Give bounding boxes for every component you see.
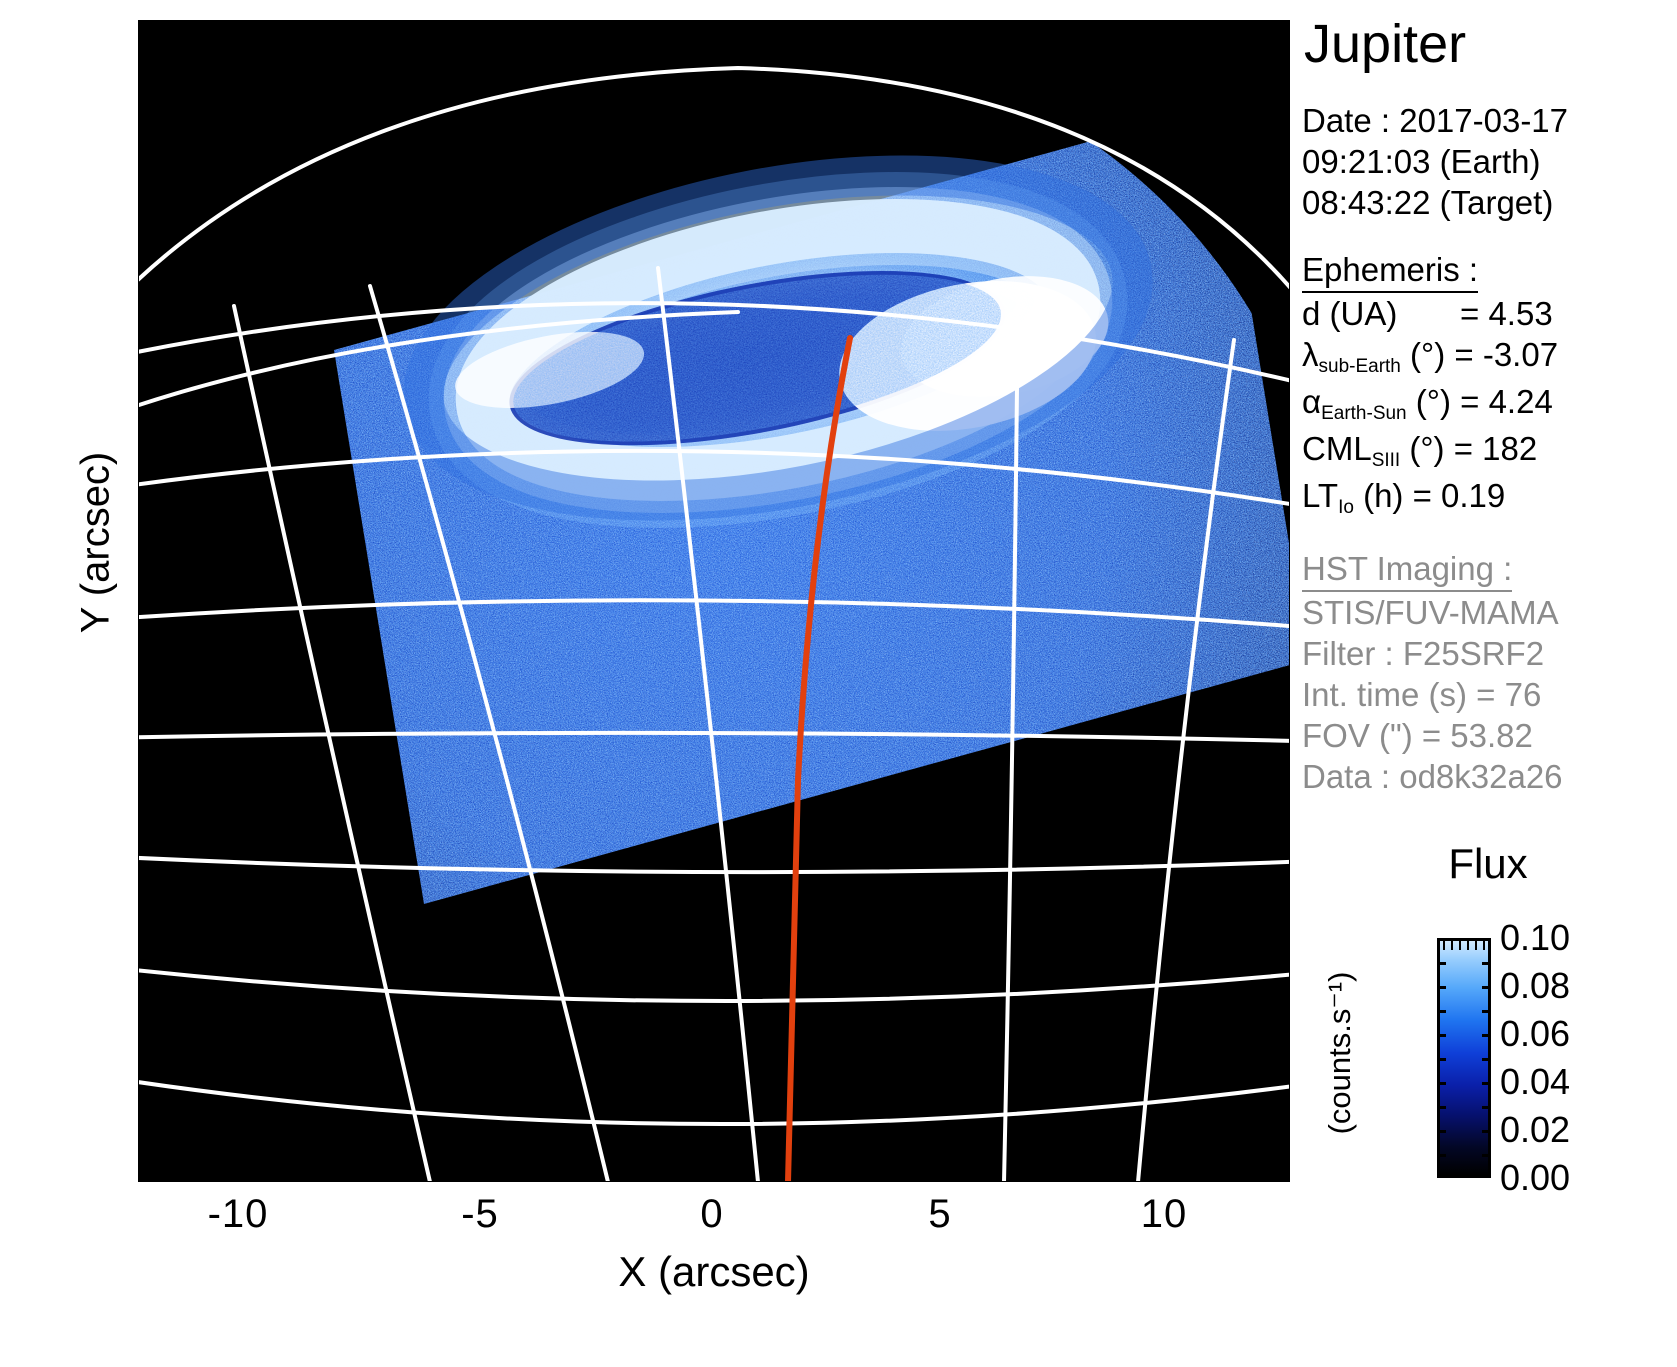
colorbar-tick-label-004: 0.04 — [1500, 1064, 1570, 1100]
colorbar-unit-label: (counts.s⁻¹) — [1322, 943, 1358, 1163]
ephemeris-row-alpha: αEarth-Sun (°) = 4.24 — [1302, 381, 1674, 428]
colorbar-tick — [1483, 941, 1485, 950]
observation-time-target: 08:43:22 (Target) — [1302, 182, 1674, 223]
colorbar-tick-label-008: 0.08 — [1500, 968, 1570, 1004]
ephemeris-value-alpha: = 4.24 — [1460, 383, 1553, 420]
colorbar-tick — [1437, 1082, 1446, 1085]
ephemeris-value-d: = 4.53 — [1460, 295, 1553, 332]
colorbar-tick — [1437, 1058, 1446, 1061]
colorbar-tick — [1443, 941, 1445, 950]
colorbar-tick — [1467, 941, 1469, 950]
ephemeris-unit-alpha: (°) — [1407, 383, 1451, 420]
y-axis-label-wrap: Y (arcsec) — [0, 520, 196, 565]
ephemeris-sub-lt: Io — [1338, 497, 1354, 518]
x-axis-label: X (arcsec) — [138, 1248, 1290, 1296]
x-tick-0: 0 — [652, 1192, 772, 1237]
ephemeris-row-cml: CMLSIII (°) = 182 — [1302, 428, 1674, 475]
y-axis-label: Y (arcsec) — [74, 452, 119, 634]
colorbar-unit-wrap: (counts.s⁻¹) — [1300, 930, 1360, 1180]
ephemeris-unit-lambda: (°) — [1401, 336, 1445, 373]
colorbar-tick-label-010: 0.10 — [1500, 920, 1570, 956]
x-tick-5: 5 — [880, 1192, 1000, 1237]
colorbar-tick — [1437, 1034, 1446, 1037]
page-title: Jupiter — [1304, 14, 1674, 74]
colorbar-tick — [1437, 1010, 1446, 1013]
colorbar-tick — [1482, 962, 1491, 965]
colorbar-tick — [1437, 1106, 1446, 1109]
ephemeris-value-lambda: = -3.07 — [1454, 336, 1558, 373]
x-tick-m10: -10 — [178, 1192, 298, 1237]
ephemeris-sub-cml: SIII — [1372, 450, 1401, 471]
observation-time-earth: 09:21:03 (Earth) — [1302, 141, 1674, 182]
x-tick-10: 10 — [1104, 1192, 1224, 1237]
ephemeris-row-lambda: λsub-Earth (°) = -3.07 — [1302, 334, 1674, 381]
ephemeris-value-cml: = 182 — [1454, 430, 1538, 467]
ephemeris-label-d: d (UA) — [1302, 293, 1460, 334]
colorbar-title: Flux — [1398, 840, 1578, 888]
ephemeris-unit-lt: (h) — [1354, 477, 1404, 514]
ephemeris-sub-lambda: sub-Earth — [1319, 356, 1401, 377]
ephemeris-symbol-lt: LT — [1302, 477, 1338, 514]
ephemeris-sub-alpha: Earth-Sun — [1321, 403, 1407, 424]
colorbar-tick-label-006: 0.06 — [1500, 1016, 1570, 1052]
hst-instrument: STIS/FUV-MAMA — [1302, 592, 1674, 633]
colorbar-tick — [1482, 1106, 1491, 1109]
ephemeris-row-lt: LTIo (h) = 0.19 — [1302, 475, 1674, 522]
colorbar-tick — [1475, 941, 1477, 950]
ephemeris-unit-cml: (°) — [1400, 430, 1444, 467]
colorbar-tick-label-002: 0.02 — [1500, 1112, 1570, 1148]
colorbar-tick — [1437, 1154, 1446, 1157]
ephemeris-heading: Ephemeris : — [1302, 249, 1478, 293]
ephemeris-value-lt: = 0.19 — [1413, 477, 1506, 514]
colorbar-tick — [1437, 986, 1446, 989]
ephemeris-row-d: d (UA)= 4.53 — [1302, 293, 1674, 334]
x-tick-m5: -5 — [420, 1192, 540, 1237]
hst-imaging-heading: HST Imaging : — [1302, 548, 1512, 592]
ephemeris-symbol-cml: CML — [1302, 430, 1372, 467]
hst-fov: FOV (") = 53.82 — [1302, 715, 1674, 756]
observation-date: Date : 2017-03-17 — [1302, 100, 1674, 141]
image-canvas — [138, 20, 1290, 1182]
colorbar-tick — [1482, 1082, 1491, 1085]
info-panel: Jupiter Date : 2017-03-17 09:21:03 (Eart… — [1302, 14, 1674, 797]
colorbar-tick — [1459, 941, 1461, 950]
colorbar-tick — [1482, 986, 1491, 989]
colorbar-tick-label-000: 0.00 — [1500, 1160, 1570, 1196]
ephemeris-symbol-lambda: λ — [1302, 336, 1319, 373]
colorbar-tick — [1482, 1058, 1491, 1061]
colorbar-tick — [1437, 962, 1446, 965]
colorbar-tick — [1437, 1130, 1446, 1133]
hst-integration-time: Int. time (s) = 76 — [1302, 674, 1674, 715]
colorbar-gradient — [1440, 941, 1488, 1175]
hst-filter: Filter : F25SRF2 — [1302, 633, 1674, 674]
jupiter-image-plot — [138, 20, 1290, 1182]
colorbar-tick — [1451, 941, 1453, 950]
colorbar-tick — [1482, 1154, 1491, 1157]
colorbar-tick — [1482, 1034, 1491, 1037]
hst-dataset: Data : od8k32a26 — [1302, 756, 1674, 797]
colorbar-tick — [1482, 1010, 1491, 1013]
colorbar-tick — [1482, 1130, 1491, 1133]
ephemeris-symbol-alpha: α — [1302, 383, 1321, 420]
